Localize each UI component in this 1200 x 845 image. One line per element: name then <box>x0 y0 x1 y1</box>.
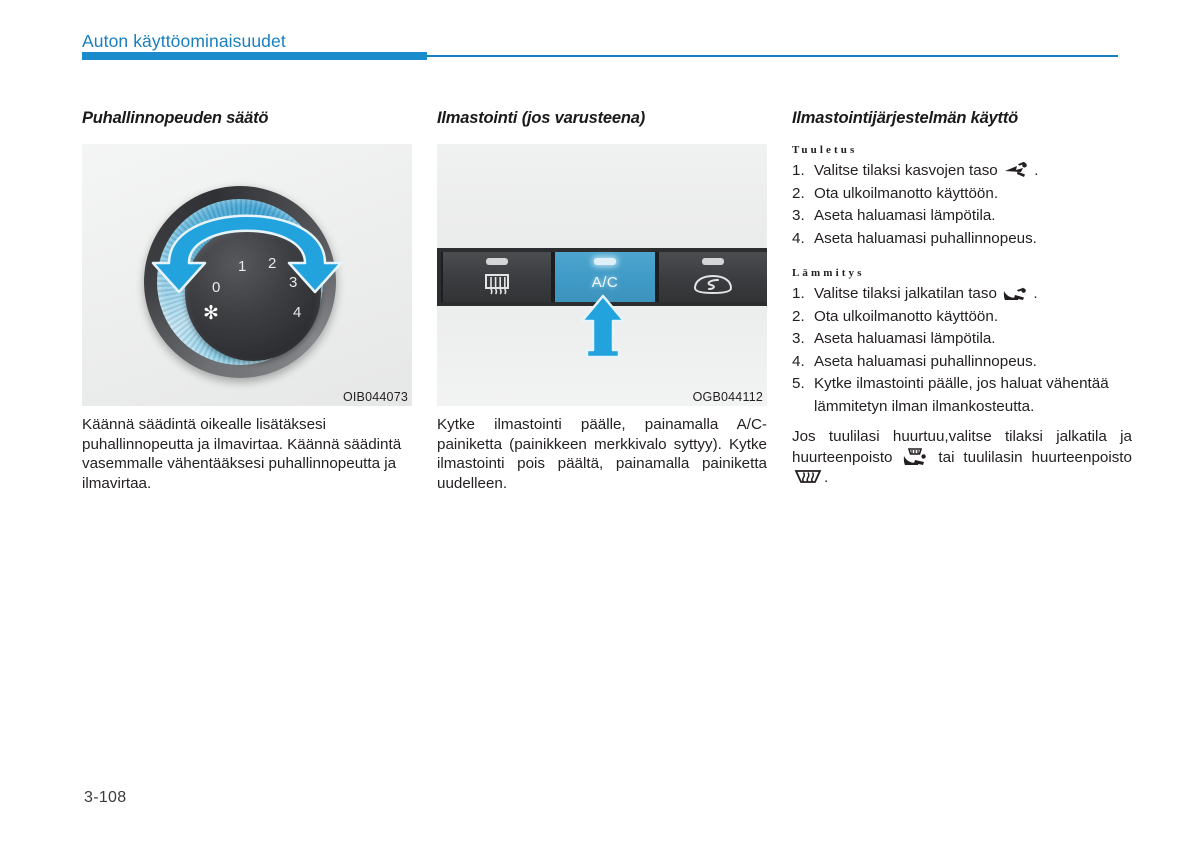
step-text: Ota ulkoilmanotto käyttöön. <box>814 185 998 202</box>
list-item: 5. Kytke ilmastointi päälle, jos haluat … <box>792 373 1132 418</box>
subheading-heating: Lämmitys <box>792 267 1132 279</box>
closing-text-3: . <box>824 469 828 486</box>
list-item: 3. Aseta haluamasi lämpötila. <box>792 205 1132 228</box>
floor-vent-icon <box>1003 285 1027 301</box>
column-ac-system-operation: Ilmastointijärjestelmän käyttö Tuuletus … <box>792 108 1132 503</box>
list-item: 2. Ota ulkoilmanotto käyttöön. <box>792 306 1132 329</box>
floor-defrost-icon <box>903 447 927 465</box>
rear-defroster-button[interactable] <box>441 252 553 302</box>
step-text: Aseta haluamasi puhallinnopeus. <box>814 230 1037 247</box>
figure-code-blower: OIB044073 <box>343 390 408 404</box>
list-item: 1. Valitse tilaksi kasvojen taso . <box>792 160 1132 183</box>
step-number: 3. <box>792 328 805 351</box>
step-text-tail: . <box>1034 162 1038 179</box>
closing-paragraph: Jos tuulilasi huurtuu,valitse tilaksi ja… <box>792 427 1132 488</box>
step-number: 3. <box>792 205 805 228</box>
list-item: 4. Aseta haluamasi puhallinnopeus. <box>792 351 1132 374</box>
step-text: Valitse tilaksi kasvojen taso <box>814 162 998 179</box>
closing-text-2: tai tuulilasin huurteenpoisto <box>938 449 1132 466</box>
step-text: Aseta haluamasi puhallinnopeus. <box>814 353 1037 370</box>
list-item: 4. Aseta haluamasi puhallinnopeus. <box>792 228 1132 251</box>
step-list-ventilation: 1. Valitse tilaksi kasvojen taso . 2. Ot… <box>792 160 1132 250</box>
section-gap <box>792 250 1132 264</box>
step-text: Aseta haluamasi lämpötila. <box>814 330 996 347</box>
column-blower-speed: Puhallinnopeuden säätö 0 1 2 3 4 ✻ <box>82 108 412 509</box>
air-recirculation-button[interactable] <box>657 252 767 302</box>
step-text-tail: . <box>1033 285 1037 302</box>
subheading-ventilation: Tuuletus <box>792 144 1132 156</box>
figure-blower-speed-knob: 0 1 2 3 4 ✻ OIB044073 <box>82 144 412 406</box>
step-number: 1. <box>792 160 805 183</box>
figure-code-ac: OGB044112 <box>693 390 763 404</box>
step-text: Kytke ilmastointi päälle, jos haluat väh… <box>814 375 1109 415</box>
header-rule-accent <box>82 52 427 60</box>
ac-panel-stage: A/C <box>437 144 767 406</box>
recirculation-led <box>702 258 724 265</box>
ac-indicator-led <box>594 258 616 265</box>
step-text: Valitse tilaksi jalkatilan taso <box>814 285 997 302</box>
rear-defroster-icon <box>480 272 514 298</box>
knob-stage: 0 1 2 3 4 ✻ <box>82 144 412 406</box>
fan-icon: ✻ <box>203 304 219 323</box>
section-heading-ac-operation: Ilmastointijärjestelmän käyttö <box>792 108 1132 128</box>
caption-blower-speed: Käännä säädintä oikealle lisätäksesi puh… <box>82 415 412 493</box>
figure-ac-panel: A/C OGB044112 <box>437 144 767 406</box>
windshield-defrost-icon <box>794 467 822 485</box>
list-item: 3. Aseta haluamasi lämpötila. <box>792 328 1132 351</box>
step-list-heating: 1. Valitse tilaksi jalkatilan taso . 2. … <box>792 283 1132 418</box>
recirculation-icon <box>692 272 734 296</box>
list-item: 1. Valitse tilaksi jalkatilan taso . <box>792 283 1132 306</box>
step-number: 4. <box>792 351 805 374</box>
step-number: 1. <box>792 283 805 306</box>
page-header: Auton käyttöominaisuudet <box>82 30 1118 70</box>
step-text: Ota ulkoilmanotto käyttöön. <box>814 308 998 325</box>
page-number: 3-108 <box>84 789 126 807</box>
step-text: Aseta haluamasi lämpötila. <box>814 207 996 224</box>
caption-air-conditioning: Kytke ilmastointi päälle, painamalla A/C… <box>437 415 767 493</box>
press-arrow-icon <box>579 294 627 360</box>
section-heading-air-conditioning: Ilmastointi (jos varusteena) <box>437 108 767 128</box>
column-air-conditioning: Ilmastointi (jos varusteena) A/C <box>437 108 767 509</box>
step-number: 2. <box>792 183 805 206</box>
rear-defroster-led <box>486 258 508 265</box>
step-number: 5. <box>792 373 805 396</box>
step-number: 4. <box>792 228 805 251</box>
rotation-arrows-icon <box>122 172 372 297</box>
list-item: 2. Ota ulkoilmanotto käyttöön. <box>792 183 1132 206</box>
step-number: 2. <box>792 306 805 329</box>
knob-number-4: 4 <box>293 304 301 321</box>
page-title: Auton käyttöominaisuudet <box>82 30 1118 52</box>
section-heading-blower-speed: Puhallinnopeuden säätö <box>82 108 412 128</box>
face-vent-icon <box>1004 162 1028 178</box>
ac-button-label: A/C <box>592 274 619 291</box>
